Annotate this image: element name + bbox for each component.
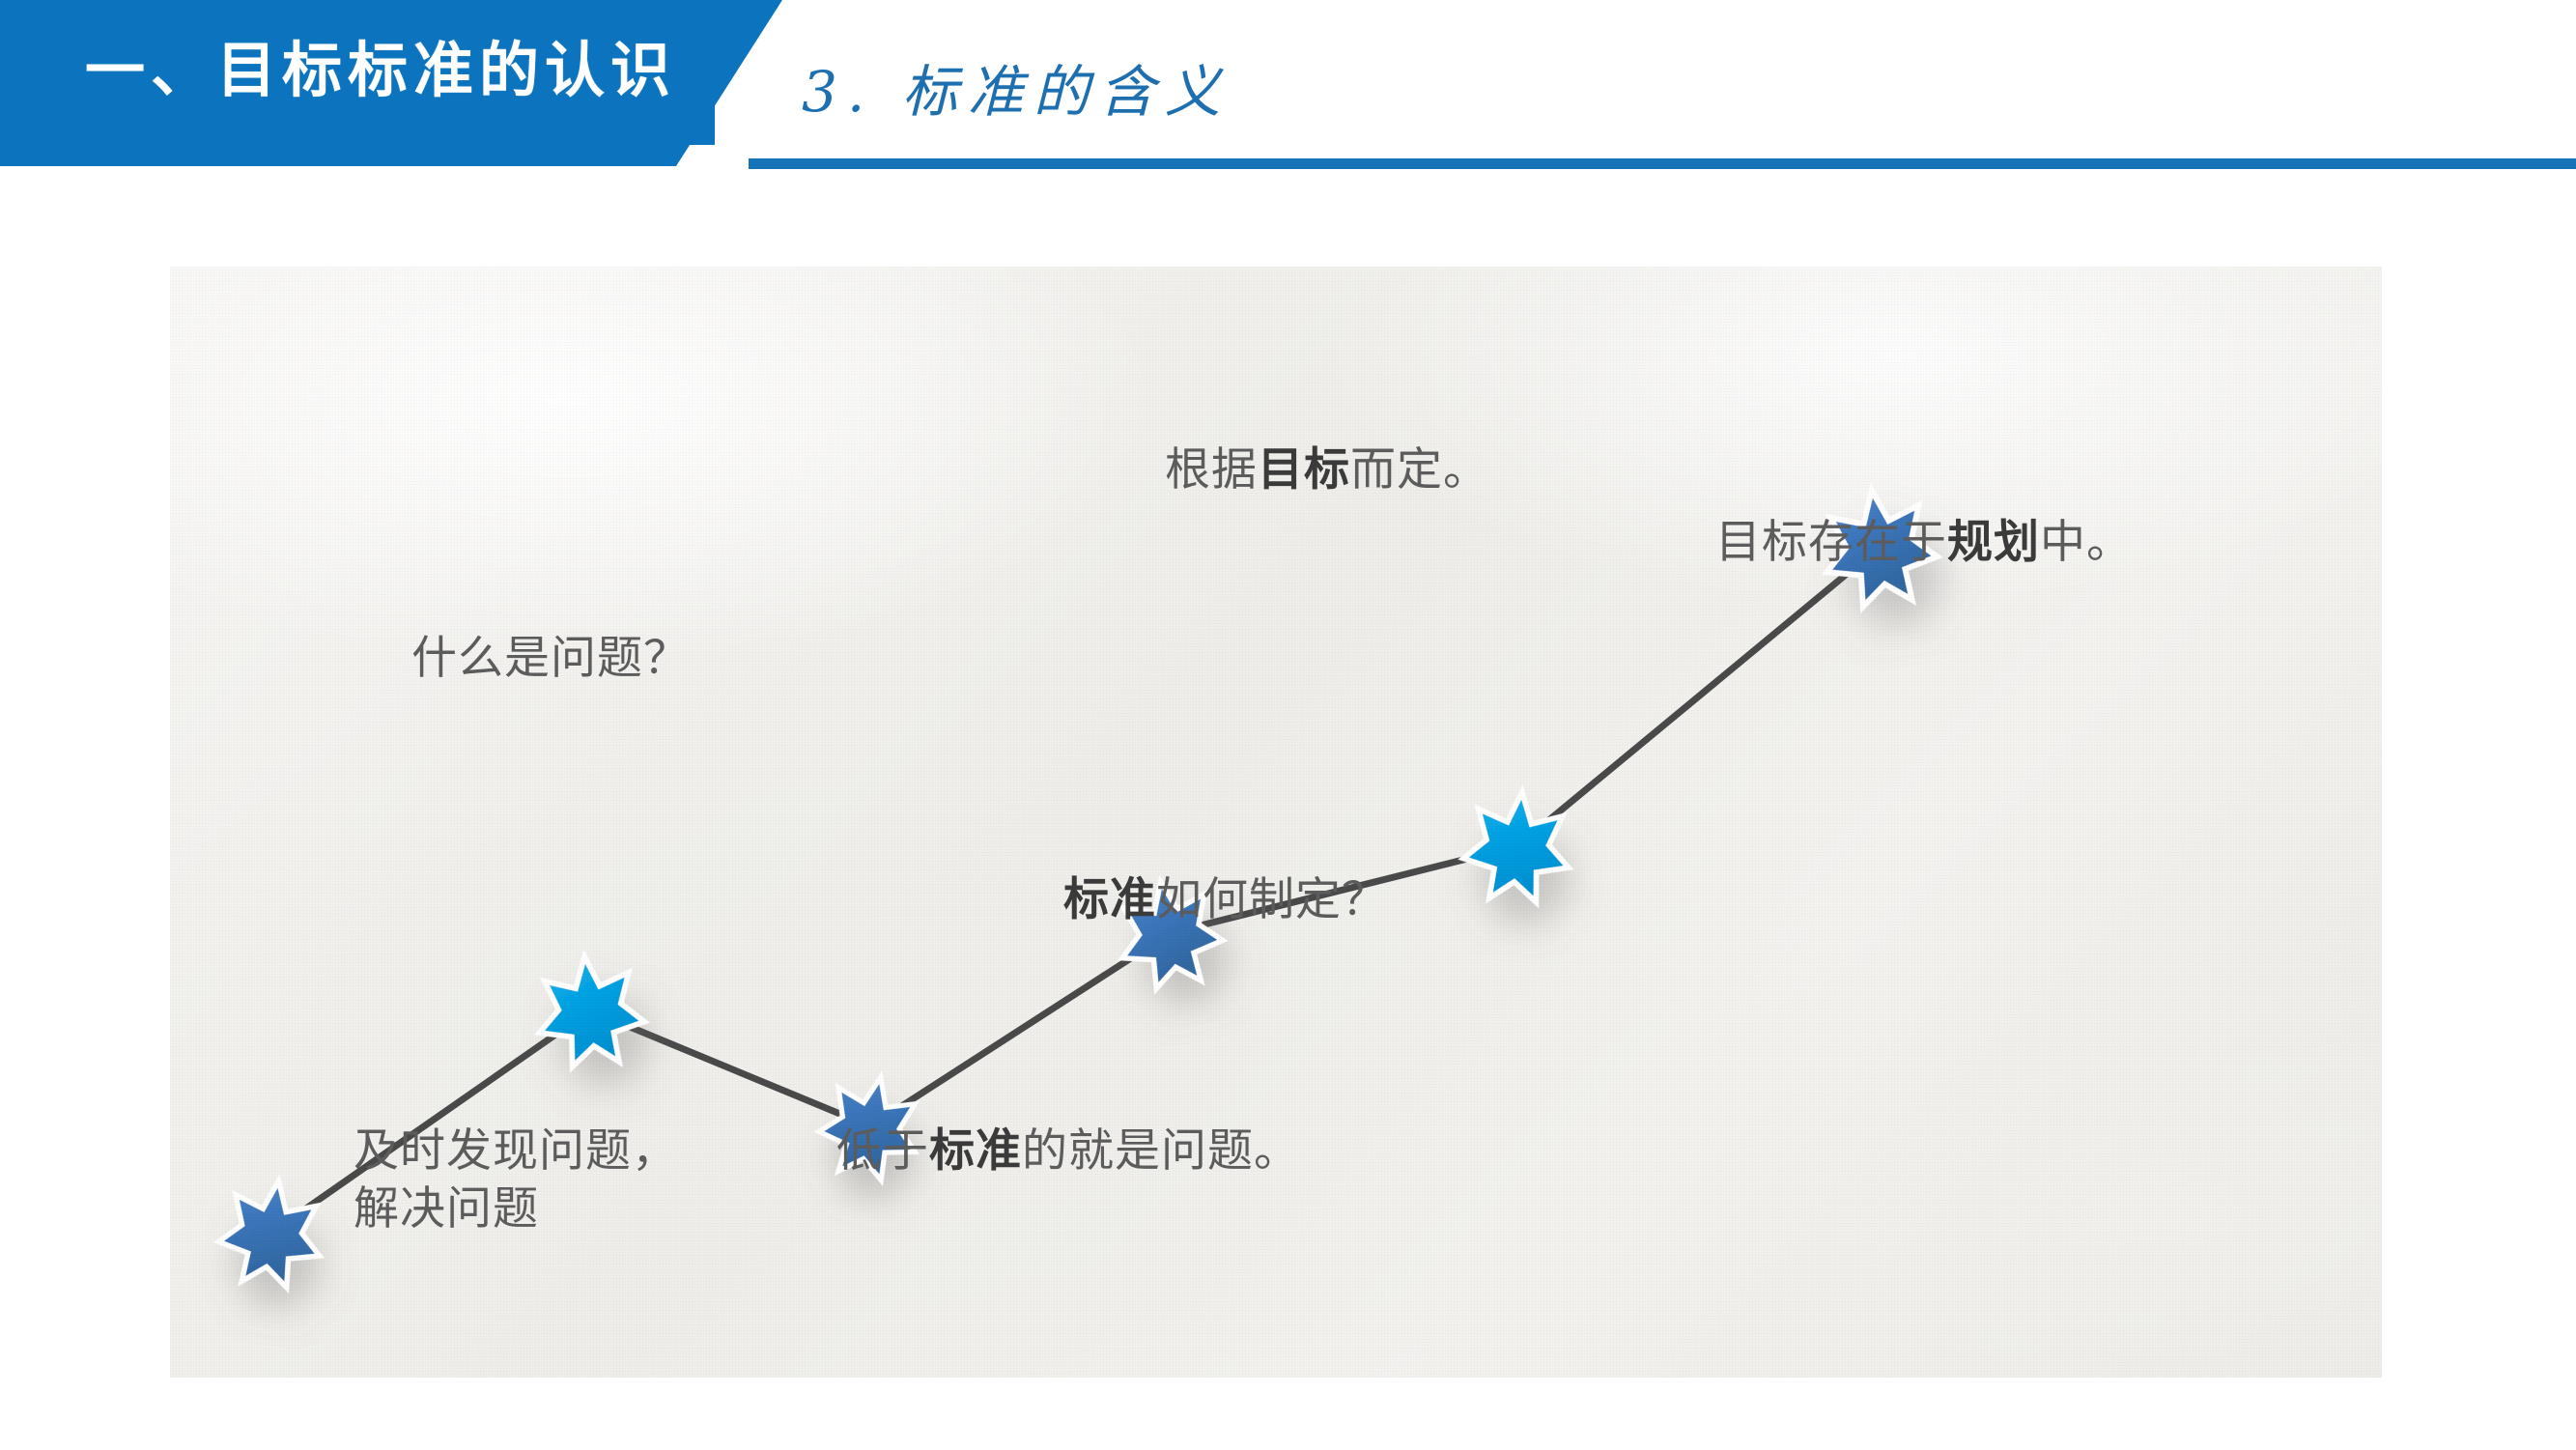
annotation-below-standard: 低于标准的就是问题。 [836,1122,1300,1180]
annotation-find-and-solve: 及时发现问题， 解决问题 [354,1122,678,1237]
header-horizontal-rule [749,158,2576,169]
header-banner-underline [0,155,666,166]
chart-marker-p2 [532,952,648,1070]
page-subtitle: 3. 标准的含义 [802,46,1231,128]
slide-root: 一、目标标准的认识 3. 标准的含义 [0,0,2576,1450]
annotation-goal-in-plan: 目标存在于规划中。 [1715,513,2133,571]
chart-marker-p1 [213,1174,328,1292]
page-title: 一、目标标准的认识 [85,37,676,105]
annotation-how-standard-made: 标准如何制定？ [1063,870,1388,928]
annotation-what-is-problem: 什么是问题？ [411,629,690,687]
content-photo-panel: 什么是问题？ 根据目标而定。 目标存在于规划中。 标准如何制定？ 低于标准的就是… [170,267,2382,1378]
annotation-based-on-goal: 根据目标而定。 [1165,441,1489,498]
slide-header: 一、目标标准的认识 3. 标准的含义 [0,0,2576,193]
chart-marker-p5 [1460,787,1575,904]
